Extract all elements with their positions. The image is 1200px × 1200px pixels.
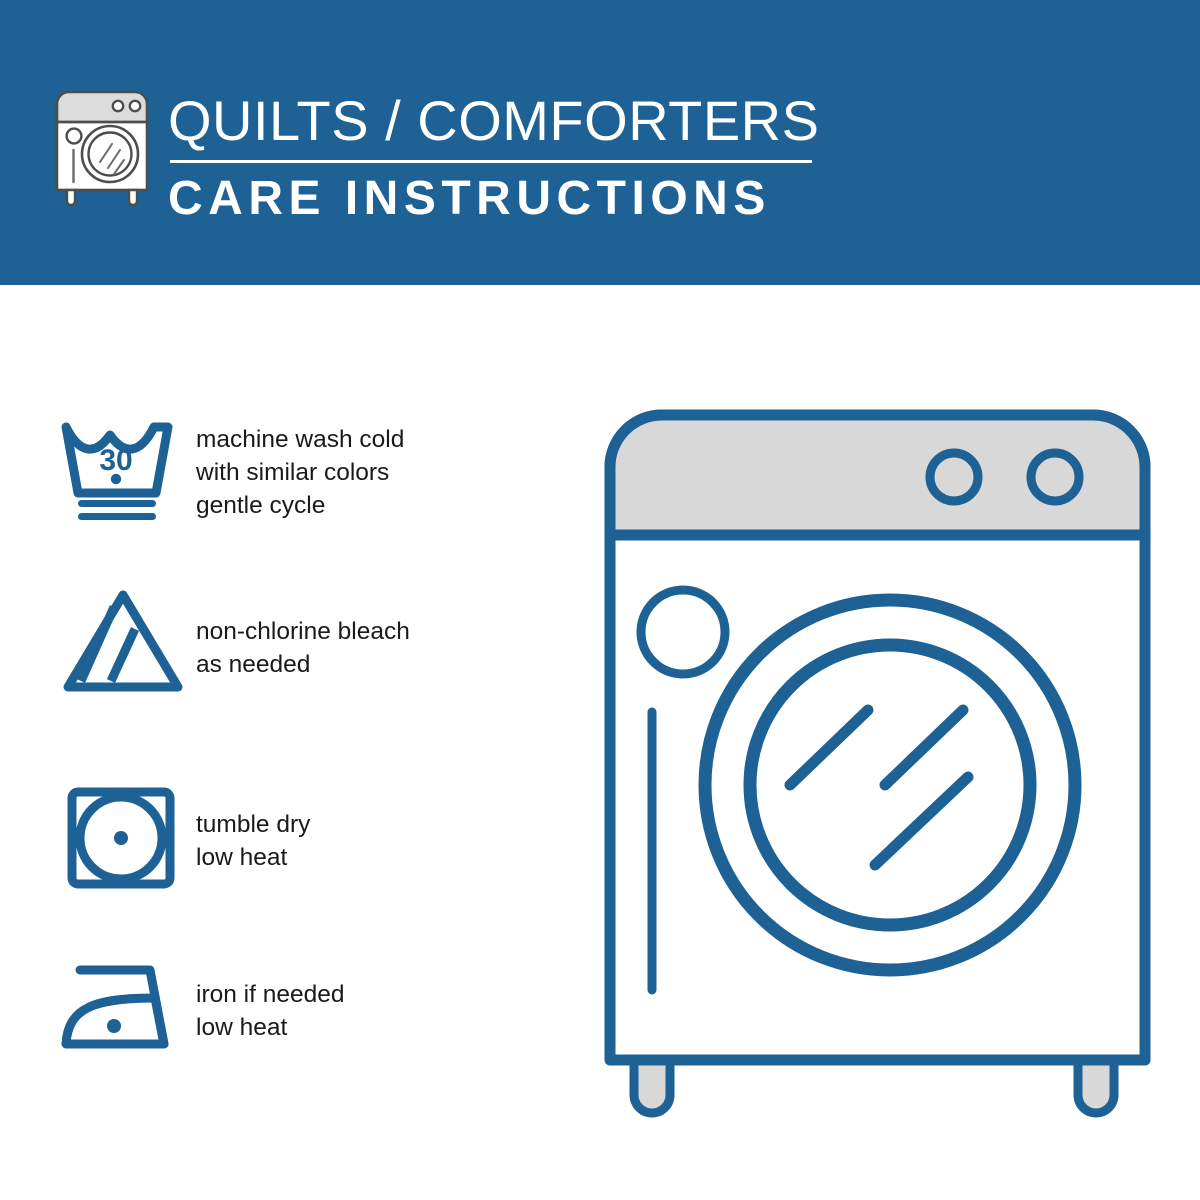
washing-machine-icon (52, 82, 160, 207)
iron-heat-dot (107, 1019, 121, 1033)
non-chlorine-bleach-triangle-icon (58, 585, 188, 700)
care-row-wash: 30 machine wash cold with similar colors… (58, 415, 528, 530)
care-text-bleach-line-2: as needed (196, 648, 410, 681)
page-subtitle: CARE INSTRUCTIONS (168, 171, 828, 227)
care-instructions-page: QUILTS / COMFORTERS CARE INSTRUCTIONS 30 (0, 0, 1200, 1200)
front-load-washing-machine-illustration (600, 405, 1155, 1125)
gentle-bar-2 (78, 513, 156, 520)
care-text-tumble-dry-line-2: low heat (196, 841, 310, 874)
page-title: QUILTS / COMFORTERS (168, 88, 828, 154)
knob-right (1031, 453, 1079, 501)
title-divider (170, 160, 812, 163)
tumble-dry-low-heat-icon (58, 780, 188, 895)
care-text-wash-line-3: gentle cycle (196, 489, 404, 522)
wash-heat-dot (111, 474, 121, 484)
care-text-wash-line-1: machine wash cold (196, 423, 404, 456)
header-title-group: QUILTS / COMFORTERS CARE INSTRUCTIONS (168, 88, 828, 227)
care-symbol-list: 30 machine wash cold with similar colors… (0, 285, 560, 1200)
detergent-dispenser (641, 590, 725, 674)
gentle-bar-1 (78, 500, 156, 507)
knob-left (930, 453, 978, 501)
tumble-dry-heat-dot (114, 831, 128, 845)
care-text-iron-line-2: low heat (196, 1011, 344, 1044)
care-text-bleach-line-1: non-chlorine bleach (196, 615, 410, 648)
header-banner: QUILTS / COMFORTERS CARE INSTRUCTIONS (0, 0, 1200, 285)
care-text-iron-line-1: iron if needed (196, 978, 344, 1011)
care-text-tumble-dry: tumble dry low heat (196, 780, 310, 874)
care-text-wash-line-2: with similar colors (196, 456, 404, 489)
care-text-iron: iron if needed low heat (196, 950, 344, 1044)
care-row-bleach: non-chlorine bleach as needed (58, 585, 528, 700)
care-row-tumble-dry: tumble dry low heat (58, 780, 528, 895)
care-text-wash: machine wash cold with similar colors ge… (196, 415, 404, 522)
care-row-iron: iron if needed low heat (58, 950, 528, 1065)
care-text-tumble-dry-line-1: tumble dry (196, 808, 310, 841)
care-text-bleach: non-chlorine bleach as needed (196, 585, 410, 681)
wash-temperature-label: 30 (99, 444, 132, 477)
iron-low-heat-icon (58, 950, 188, 1065)
wash-tub-30-gentle-icon: 30 (58, 415, 188, 530)
